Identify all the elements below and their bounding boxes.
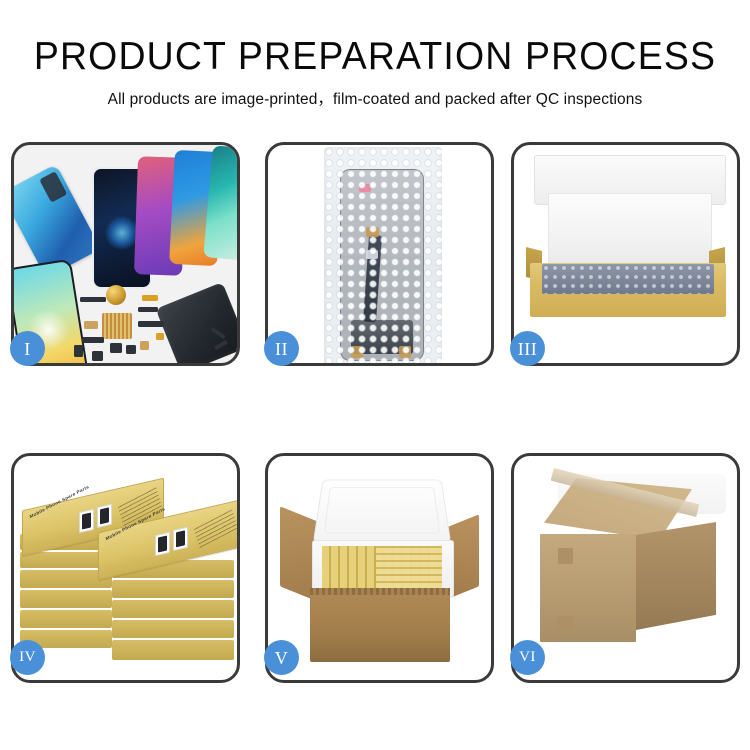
small-part xyxy=(82,337,104,343)
foam-sheet xyxy=(548,193,712,270)
step-badge-2: II xyxy=(264,331,299,366)
step-panel-1 xyxy=(11,142,240,366)
small-part xyxy=(80,297,106,302)
step-panel-3 xyxy=(511,142,740,366)
step-2-image xyxy=(268,145,491,363)
packed-yellow-boxes xyxy=(376,546,442,588)
small-part xyxy=(92,351,103,361)
step-panel-2 xyxy=(265,142,494,366)
small-part xyxy=(84,321,98,329)
step-3-image xyxy=(514,145,737,363)
small-part xyxy=(110,343,122,353)
product-window xyxy=(79,509,94,533)
steps-grid: I II xyxy=(0,0,750,750)
box-edge xyxy=(112,600,234,618)
step-panel-5 xyxy=(265,453,494,683)
small-part xyxy=(138,321,164,327)
product-window xyxy=(173,527,188,551)
carton-body xyxy=(310,588,450,662)
step-panel-4: Mobile Phone Spare Parts Mobile Phone Sp… xyxy=(11,453,240,683)
step-badge-3: III xyxy=(510,331,545,366)
small-part xyxy=(138,307,158,312)
box-edge xyxy=(112,620,234,638)
step-6-image xyxy=(514,456,737,680)
bubble-texture xyxy=(324,147,442,363)
phone-backplate xyxy=(156,282,237,363)
step-1-image xyxy=(14,145,237,363)
step-4-image: Mobile Phone Spare Parts Mobile Phone Sp… xyxy=(14,456,237,680)
spec-list xyxy=(194,508,237,548)
small-part xyxy=(126,345,136,354)
box-edge xyxy=(112,640,234,660)
box-stack: Mobile Phone Spare Parts Mobile Phone Sp… xyxy=(20,472,234,668)
logic-board-component xyxy=(102,313,132,339)
step-badge-4: IV xyxy=(10,640,45,675)
carton-side-face xyxy=(636,522,716,630)
small-part xyxy=(142,295,158,301)
foam-lid xyxy=(313,480,451,544)
step-badge-1: I xyxy=(10,331,45,366)
box-edge xyxy=(20,610,112,628)
speaker-component xyxy=(106,285,126,305)
box-edge xyxy=(112,580,234,598)
product-window xyxy=(155,532,170,556)
carton-tab xyxy=(558,548,573,564)
product-window xyxy=(97,504,112,528)
product-preparation-infographic: PRODUCT PREPARATION PROCESS All products… xyxy=(0,0,750,750)
carton-front-face xyxy=(540,534,636,642)
step-5-image xyxy=(268,456,491,680)
step-badge-6: VI xyxy=(510,640,545,675)
step-badge-5: V xyxy=(264,640,299,675)
small-part xyxy=(140,341,149,350)
carton-tab xyxy=(558,616,573,632)
bubble-wrap-bag xyxy=(324,147,442,363)
bubble-wrapped-contents xyxy=(542,264,714,294)
small-part xyxy=(156,333,164,340)
small-part xyxy=(74,345,83,357)
step-panel-6 xyxy=(511,453,740,683)
box-edge xyxy=(20,590,112,608)
